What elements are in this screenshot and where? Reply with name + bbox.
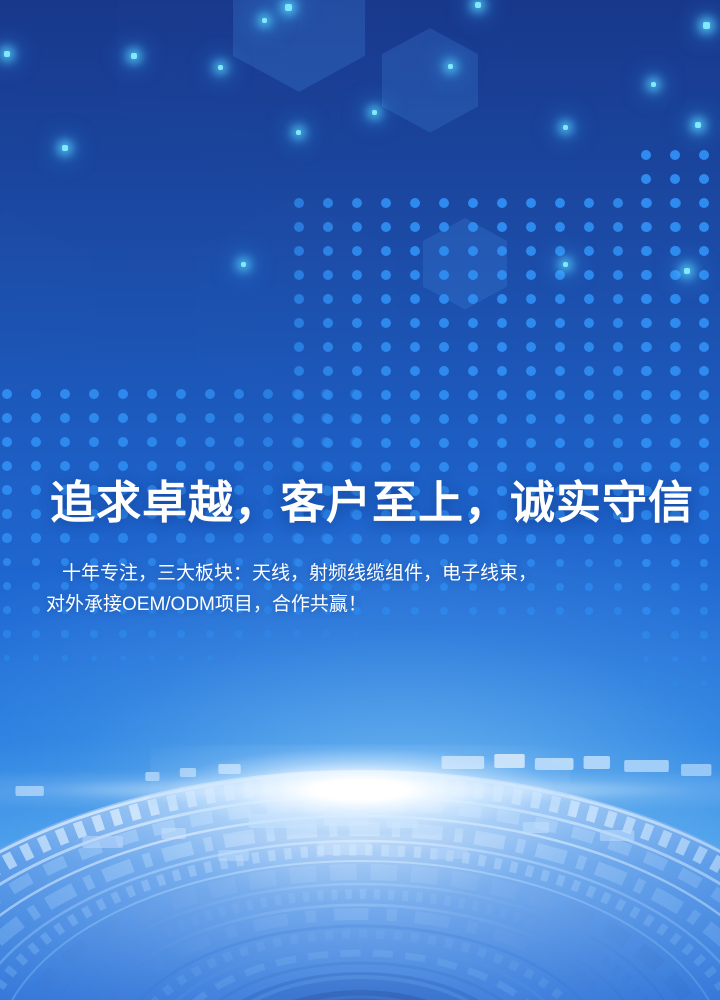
grid-dot [234, 413, 244, 423]
grid-dot [118, 533, 127, 542]
grid-dot [699, 246, 709, 256]
grid-dot [381, 270, 391, 280]
grid-dot [670, 174, 680, 184]
grid-dot [2, 461, 12, 471]
grid-dot [352, 318, 362, 328]
grid-dot [60, 461, 70, 471]
grid-dot [642, 631, 649, 638]
grid-dot [526, 366, 536, 376]
grid-dot [410, 294, 420, 304]
grid-dot [584, 534, 593, 543]
grid-dot [700, 607, 708, 615]
grid-dot [410, 318, 420, 328]
grid-dot [31, 485, 41, 495]
grid-dot [4, 655, 10, 661]
grid-dot [2, 437, 12, 447]
grid-dot [60, 533, 69, 542]
grid-dot [641, 150, 651, 160]
grid-dot [699, 438, 709, 448]
grid-dot [292, 437, 302, 447]
grid-dot [176, 437, 186, 447]
grid-dot [497, 390, 507, 400]
grid-dot [497, 462, 507, 472]
grid-dot [584, 294, 594, 304]
banner-subtitle: 十年专注，三大板块：天线，射频线缆组件，电子线束， 对外承接OEM/ODM项目，… [46, 559, 686, 621]
grid-dot [670, 222, 680, 232]
grid-dot [526, 414, 536, 424]
grid-dot [3, 558, 12, 567]
grid-dot [702, 705, 707, 710]
grid-dot [205, 413, 215, 423]
glow-spark [695, 122, 701, 128]
grid-dot [294, 198, 304, 208]
grid-dot [89, 437, 99, 447]
grid-dot [641, 390, 651, 400]
grid-dot [120, 655, 126, 661]
grid-dot [555, 246, 565, 256]
grid-dot [89, 389, 99, 399]
grid-dot [294, 342, 304, 352]
grid-dot [613, 390, 623, 400]
grid-dot [555, 462, 565, 472]
grid-dot [410, 438, 420, 448]
glow-spark [684, 268, 690, 274]
grid-dot [292, 533, 301, 542]
grid-dot [468, 222, 478, 232]
grid-dot [381, 294, 391, 304]
grid-dot [177, 630, 184, 637]
grid-dot [381, 246, 391, 256]
grid-dot [643, 680, 649, 686]
glow-spark [563, 262, 568, 267]
grid-dot [323, 222, 333, 232]
grid-dot [381, 390, 391, 400]
grid-dot [351, 630, 358, 637]
grid-dot [2, 533, 11, 542]
grid-dot [206, 630, 213, 637]
dot-grid-left [2, 389, 379, 677]
grid-dot [234, 437, 244, 447]
grid-dot [699, 222, 709, 232]
grid-dot [321, 437, 331, 447]
grid-dot [641, 462, 651, 472]
grid-dot [176, 461, 186, 471]
grid-dot [670, 270, 680, 280]
tech-radial-disc [0, 730, 720, 1000]
grid-dot [323, 246, 333, 256]
grid-dot [671, 631, 678, 638]
grid-dot [439, 246, 449, 256]
grid-dot [176, 413, 186, 423]
grid-dot [350, 413, 360, 423]
grid-dot [410, 462, 420, 472]
grid-dot [381, 414, 391, 424]
grid-dot [3, 606, 11, 614]
grid-dot [555, 390, 565, 400]
grid-dot [555, 294, 565, 304]
grid-dot [670, 390, 680, 400]
grid-dot [439, 342, 449, 352]
glow-spark [62, 145, 68, 151]
grid-dot [584, 342, 594, 352]
grid-dot [292, 413, 302, 423]
grid-dot [699, 510, 709, 520]
grid-dot [584, 222, 594, 232]
grid-dot [31, 389, 41, 399]
grid-dot [468, 270, 478, 280]
grid-dot [205, 389, 215, 399]
banner-subtitle-line-2: 对外承接OEM/ODM项目，合作共赢！ [46, 590, 686, 621]
grid-dot [322, 630, 329, 637]
grid-dot [613, 198, 623, 208]
grid-dot [672, 680, 678, 686]
grid-dot [352, 270, 362, 280]
grid-dot [641, 222, 651, 232]
grid-dot [205, 461, 215, 471]
grid-dot [32, 558, 41, 567]
glow-spark [372, 110, 377, 115]
grid-dot [613, 414, 623, 424]
grid-dot [410, 222, 420, 232]
grid-dot [584, 390, 594, 400]
grid-dot [584, 270, 594, 280]
grid-dot [641, 318, 651, 328]
grid-dot [584, 438, 594, 448]
grid-dot [31, 533, 40, 542]
grid-dot [31, 461, 41, 471]
grid-dot [410, 246, 420, 256]
grid-dot [32, 606, 40, 614]
grid-dot [700, 559, 709, 568]
glow-spark [703, 22, 710, 29]
grid-dot [641, 198, 651, 208]
grid-dot [294, 366, 304, 376]
grid-dot [439, 414, 449, 424]
grid-dot [118, 413, 128, 423]
grid-dot [584, 366, 594, 376]
grid-dot [701, 656, 707, 662]
glow-spark [651, 82, 656, 87]
grid-dot [613, 222, 623, 232]
grid-dot [381, 462, 391, 472]
grid-dot [323, 342, 333, 352]
glow-spark [563, 125, 568, 130]
grid-dot [293, 630, 300, 637]
grid-dot [468, 390, 478, 400]
grid-dot [205, 437, 215, 447]
banner-subtitle-line-1: 十年专注，三大板块：天线，射频线缆组件，电子线束， [46, 559, 686, 590]
grid-dot [526, 294, 536, 304]
grid-dot [613, 294, 623, 304]
grid-dot [555, 222, 565, 232]
grid-dot [526, 438, 536, 448]
grid-dot [149, 655, 155, 661]
grid-dot [321, 389, 331, 399]
grid-dot [264, 630, 271, 637]
grid-dot [265, 655, 271, 661]
grid-dot [497, 366, 507, 376]
glow-spark [285, 4, 292, 11]
grid-dot [294, 655, 300, 661]
glow-spark [218, 65, 223, 70]
grid-dot [294, 294, 304, 304]
grid-dot [410, 270, 420, 280]
grid-dot [60, 413, 70, 423]
glow-spark [448, 64, 453, 69]
grid-dot [321, 461, 331, 471]
grid-dot [350, 461, 360, 471]
grid-dot [32, 582, 40, 590]
grid-dot [352, 198, 362, 208]
dot-grid-far-right [641, 150, 720, 726]
grid-dot [699, 414, 709, 424]
glow-spark [241, 262, 246, 267]
grid-dot [263, 533, 272, 542]
grid-dot [584, 414, 594, 424]
grid-dot [2, 509, 12, 519]
grid-dot [613, 318, 623, 328]
page-title: 追求卓越，客户至上，诚实守信 [50, 476, 690, 531]
grid-dot [700, 583, 708, 591]
grid-dot [294, 318, 304, 328]
grid-dot [352, 246, 362, 256]
grid-dot [641, 366, 651, 376]
grid-dot [294, 270, 304, 280]
grid-dot [641, 294, 651, 304]
grid-dot [497, 270, 507, 280]
grid-dot [350, 389, 360, 399]
grid-dot [699, 198, 709, 208]
grid-dot [701, 680, 707, 686]
grid-dot [90, 630, 97, 637]
grid-dot [613, 462, 623, 472]
grid-dot [497, 342, 507, 352]
grid-dot [526, 534, 535, 543]
glow-spark [131, 53, 137, 59]
grid-dot [497, 318, 507, 328]
grid-dot [89, 533, 98, 542]
grid-dot [147, 533, 156, 542]
grid-dot [321, 533, 330, 542]
grid-dot [526, 222, 536, 232]
grid-dot [613, 438, 623, 448]
grid-dot [236, 655, 242, 661]
grid-dot [526, 462, 536, 472]
grid-dot [526, 390, 536, 400]
grid-dot [323, 318, 333, 328]
grid-dot [32, 630, 39, 637]
grid-dot [468, 342, 478, 352]
grid-dot [699, 150, 709, 160]
grid-dot [670, 294, 680, 304]
grid-dot [147, 437, 157, 447]
grid-dot [439, 222, 449, 232]
grid-dot [643, 656, 649, 662]
grid-dot [641, 174, 651, 184]
grid-dot [670, 246, 680, 256]
grid-dot [234, 461, 244, 471]
grid-dot [613, 342, 623, 352]
grid-dot [323, 655, 329, 661]
grid-dot [381, 222, 391, 232]
grid-dot [62, 655, 68, 661]
grid-dot [178, 655, 184, 661]
grid-dot [555, 198, 565, 208]
grid-dot [641, 270, 651, 280]
grid-dot [3, 630, 10, 637]
grid-dot [555, 270, 565, 280]
grid-dot [699, 390, 709, 400]
grid-dot [381, 438, 391, 448]
grid-dot [468, 462, 478, 472]
grid-dot [205, 533, 214, 542]
grid-dot [3, 582, 11, 590]
grid-dot [323, 198, 333, 208]
grid-dot [673, 705, 678, 710]
grid-dot [555, 318, 565, 328]
grid-dot [670, 534, 679, 543]
grid-dot [31, 413, 41, 423]
grid-dot [641, 414, 651, 424]
grid-dot [439, 534, 448, 543]
grid-dot [410, 366, 420, 376]
grid-dot [644, 705, 649, 710]
grid-dot [439, 366, 449, 376]
grid-dot [352, 366, 362, 376]
grid-dot [176, 533, 185, 542]
grid-dot [526, 246, 536, 256]
grid-dot [468, 438, 478, 448]
grid-dot [555, 438, 565, 448]
grid-dot [410, 390, 420, 400]
grid-dot [670, 150, 680, 160]
grid-dot [641, 534, 650, 543]
grid-dot [89, 413, 99, 423]
grid-dot [584, 198, 594, 208]
grid-dot [234, 389, 244, 399]
grid-dot [410, 342, 420, 352]
grid-dot [60, 437, 70, 447]
grid-dot [641, 342, 651, 352]
grid-dot [526, 318, 536, 328]
grid-dot [641, 246, 651, 256]
grid-dot [118, 389, 128, 399]
grid-dot [147, 461, 157, 471]
grid-dot [31, 437, 41, 447]
grid-dot [207, 655, 213, 661]
grid-dot [118, 437, 128, 447]
grid-dot [555, 366, 565, 376]
grid-dot [352, 342, 362, 352]
grid-dot [321, 413, 331, 423]
grid-dot [670, 366, 680, 376]
grid-dot [263, 437, 273, 447]
grid-dot [555, 534, 564, 543]
glow-spark [475, 2, 481, 8]
hex-outline-left-edge [0, 212, 92, 397]
grid-dot [670, 462, 680, 472]
glow-spark [262, 18, 267, 23]
grid-dot [699, 174, 709, 184]
grid-dot [670, 438, 680, 448]
grid-dot [526, 270, 536, 280]
grid-dot [468, 318, 478, 328]
grid-dot [352, 222, 362, 232]
grid-dot [670, 414, 680, 424]
grid-dot [410, 534, 419, 543]
grid-dot [292, 389, 302, 399]
grid-dot [497, 294, 507, 304]
grid-dot [89, 461, 99, 471]
grid-dot [670, 318, 680, 328]
grid-dot [699, 462, 709, 472]
grid-dot [235, 630, 242, 637]
grid-dot [497, 414, 507, 424]
grid-dot [439, 270, 449, 280]
grid-dot [263, 389, 273, 399]
grid-dot [497, 438, 507, 448]
grid-dot [263, 413, 273, 423]
grid-dot [294, 246, 304, 256]
grid-dot [555, 342, 565, 352]
grid-dot [2, 485, 12, 495]
grid-dot [526, 342, 536, 352]
grid-dot [31, 509, 41, 519]
grid-dot [497, 534, 506, 543]
grid-dot [613, 534, 622, 543]
grid-dot [699, 342, 709, 352]
grid-dot [672, 656, 678, 662]
grid-dot [699, 366, 709, 376]
grid-dot [263, 461, 273, 471]
grid-dot [323, 294, 333, 304]
grid-dot [292, 461, 302, 471]
grid-dot [699, 270, 709, 280]
grid-dot [381, 318, 391, 328]
grid-dot [555, 414, 565, 424]
grid-dot [352, 655, 358, 661]
grid-dot [497, 246, 507, 256]
grid-dot [613, 270, 623, 280]
grid-dot [699, 534, 708, 543]
grid-dot [439, 438, 449, 448]
grid-dot [2, 413, 12, 423]
grid-dot [294, 222, 304, 232]
grid-dot [439, 198, 449, 208]
grid-dot [584, 462, 594, 472]
grid-dot [381, 534, 390, 543]
grid-dot [148, 630, 155, 637]
grid-dot [352, 294, 362, 304]
grid-dot [176, 389, 186, 399]
grid-dot [468, 534, 477, 543]
grid-dot [468, 366, 478, 376]
grid-dot [468, 294, 478, 304]
grid-dot [439, 462, 449, 472]
grid-dot [439, 318, 449, 328]
grid-dot [323, 270, 333, 280]
grid-dot [439, 294, 449, 304]
grid-dot [497, 222, 507, 232]
grid-dot [119, 630, 126, 637]
grid-dot [381, 342, 391, 352]
grid-dot [699, 318, 709, 328]
grid-dot [468, 414, 478, 424]
grid-dot [613, 246, 623, 256]
grid-dot [670, 198, 680, 208]
grid-dot [2, 389, 12, 399]
grid-dot [641, 438, 651, 448]
